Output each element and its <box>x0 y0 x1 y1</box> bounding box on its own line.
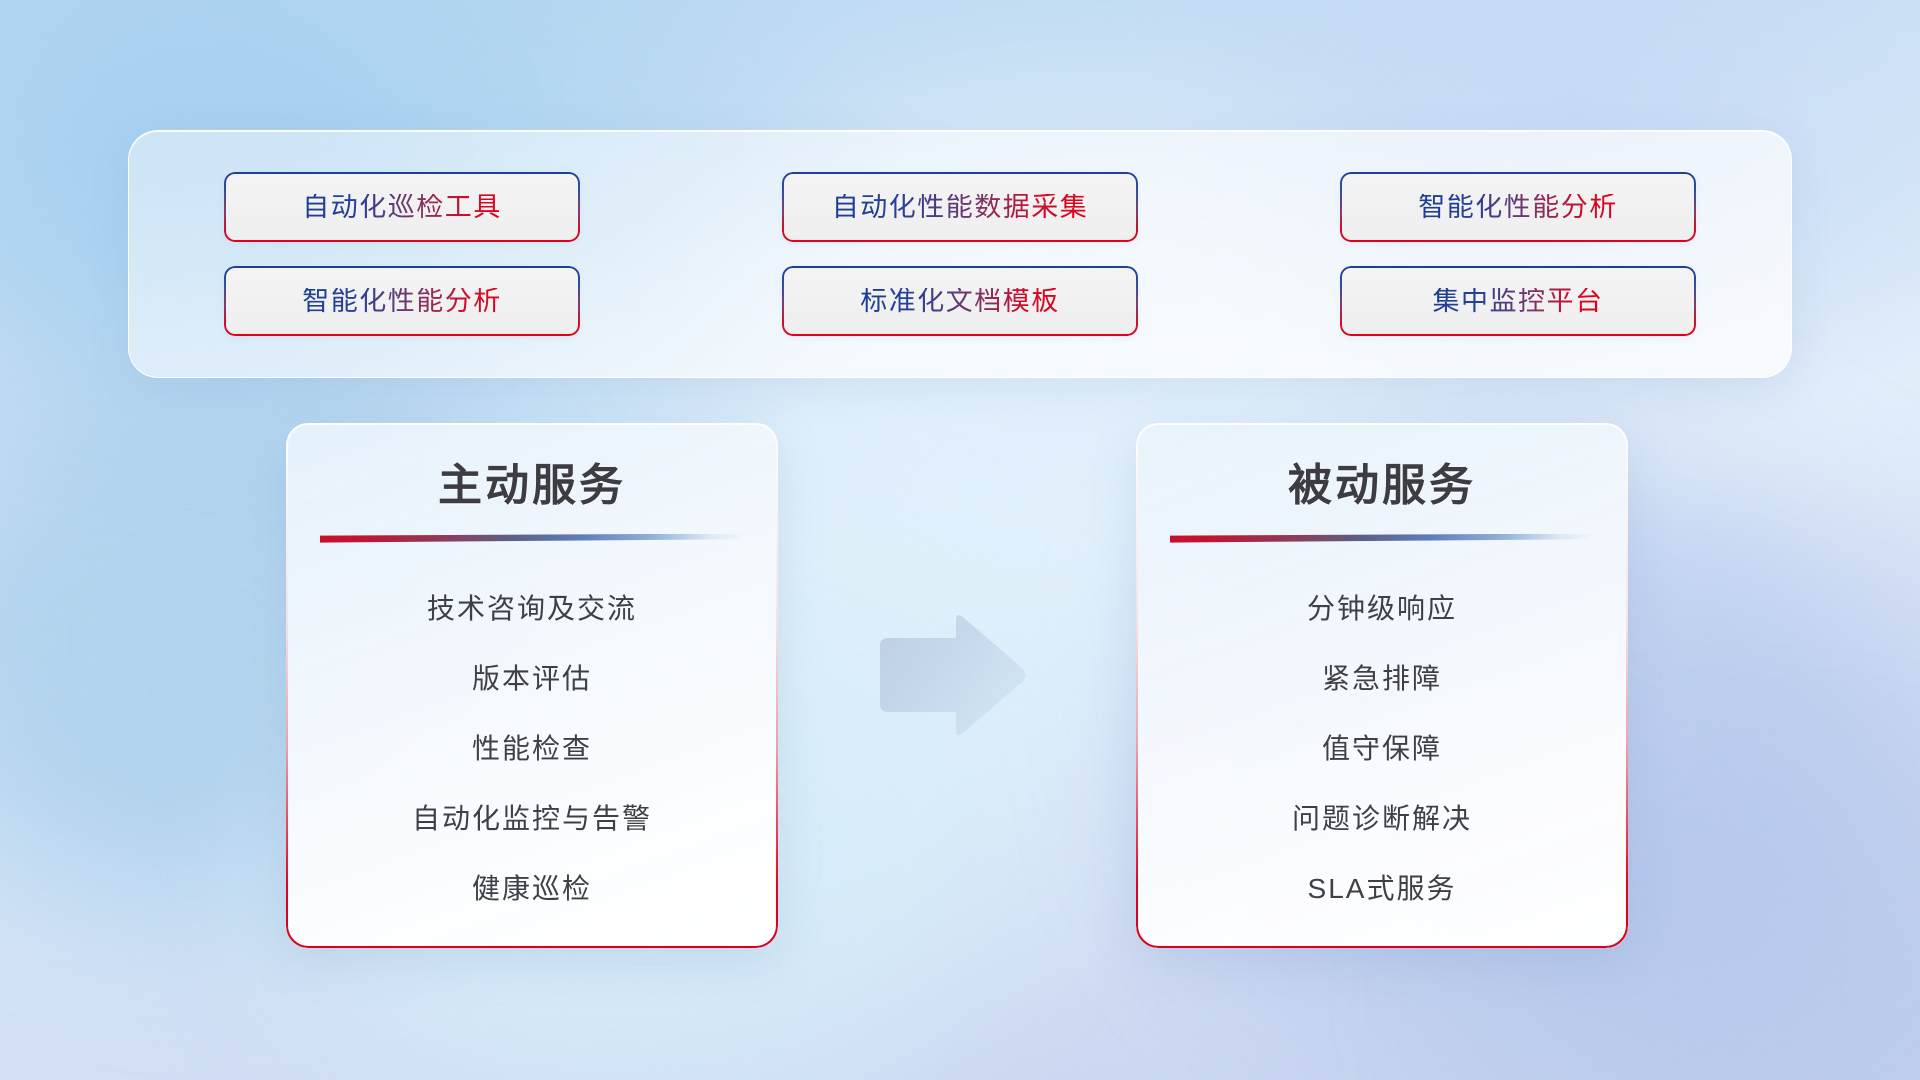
service-item-list: 分钟级响应 紧急排障 值守保障 问题诊断解决 SLA式服务 <box>1136 574 1628 924</box>
capability-pill-intelligent-performance-analysis[interactable]: 智能化性能分析 <box>1340 172 1696 242</box>
capability-pill-label: 智能化性能分析 <box>302 288 502 315</box>
service-list-item: 技术咨询及交流 <box>427 574 637 644</box>
capability-row-1: 自动化巡检工具 自动化性能数据采集 智能化性能分析 <box>224 172 1696 242</box>
diagram-canvas: 自动化巡检工具 自动化性能数据采集 智能化性能分析 智能化性能分析 标准化文档模… <box>0 0 1920 1080</box>
service-card-title: 被动服务 <box>1288 461 1476 512</box>
service-list-item: 值守保障 <box>1322 714 1442 784</box>
capability-pill-centralized-monitoring-platform[interactable]: 集中监控平台 <box>1340 266 1696 336</box>
capability-pill-label: 自动化性能数据采集 <box>832 194 1089 221</box>
capability-pill-automated-performance-data-collection[interactable]: 自动化性能数据采集 <box>782 172 1138 242</box>
arrow-right-icon <box>872 610 1032 740</box>
title-divider-bar <box>1170 534 1594 543</box>
capability-pill-intelligent-performance-analysis-2[interactable]: 智能化性能分析 <box>224 266 580 336</box>
service-list-item: 问题诊断解决 <box>1292 784 1472 854</box>
service-list-item: 分钟级响应 <box>1307 574 1457 644</box>
service-card-inner: 被动服务 分钟级响应 紧急排障 值守保障 问题诊断解决 SLA式服务 <box>1136 423 1628 948</box>
capability-pill-standardized-document-template[interactable]: 标准化文档模板 <box>782 266 1138 336</box>
capability-row-2: 智能化性能分析 标准化文档模板 集中监控平台 <box>224 266 1696 336</box>
service-card-title: 主动服务 <box>438 461 626 512</box>
service-card-inner: 主动服务 技术咨询及交流 版本评估 性能检查 自动化监控与告警 健康巡检 <box>286 423 778 948</box>
capability-pill-label: 智能化性能分析 <box>1418 194 1618 221</box>
capability-pill-label: 标准化文档模板 <box>860 288 1060 315</box>
service-card-active: 主动服务 技术咨询及交流 版本评估 性能检查 自动化监控与告警 健康巡检 <box>286 423 778 948</box>
capability-pill-automated-inspection-tool[interactable]: 自动化巡检工具 <box>224 172 580 242</box>
service-list-item: 版本评估 <box>472 644 592 714</box>
service-card-passive: 被动服务 分钟级响应 紧急排障 值守保障 问题诊断解决 SLA式服务 <box>1136 423 1628 948</box>
service-list-item: 自动化监控与告警 <box>412 784 652 854</box>
service-list-item: SLA式服务 <box>1308 854 1457 924</box>
service-list-item: 性能检查 <box>472 714 592 784</box>
service-list-item: 紧急排障 <box>1322 644 1442 714</box>
title-divider <box>1170 534 1594 544</box>
title-divider <box>320 534 744 544</box>
service-item-list: 技术咨询及交流 版本评估 性能检查 自动化监控与告警 健康巡检 <box>286 574 778 924</box>
title-divider-bar <box>320 534 744 543</box>
capability-pill-label: 自动化巡检工具 <box>302 194 502 221</box>
capability-pill-label: 集中监控平台 <box>1433 288 1604 315</box>
service-list-item: 健康巡检 <box>472 854 592 924</box>
capability-panel: 自动化巡检工具 自动化性能数据采集 智能化性能分析 智能化性能分析 标准化文档模… <box>128 130 1792 378</box>
